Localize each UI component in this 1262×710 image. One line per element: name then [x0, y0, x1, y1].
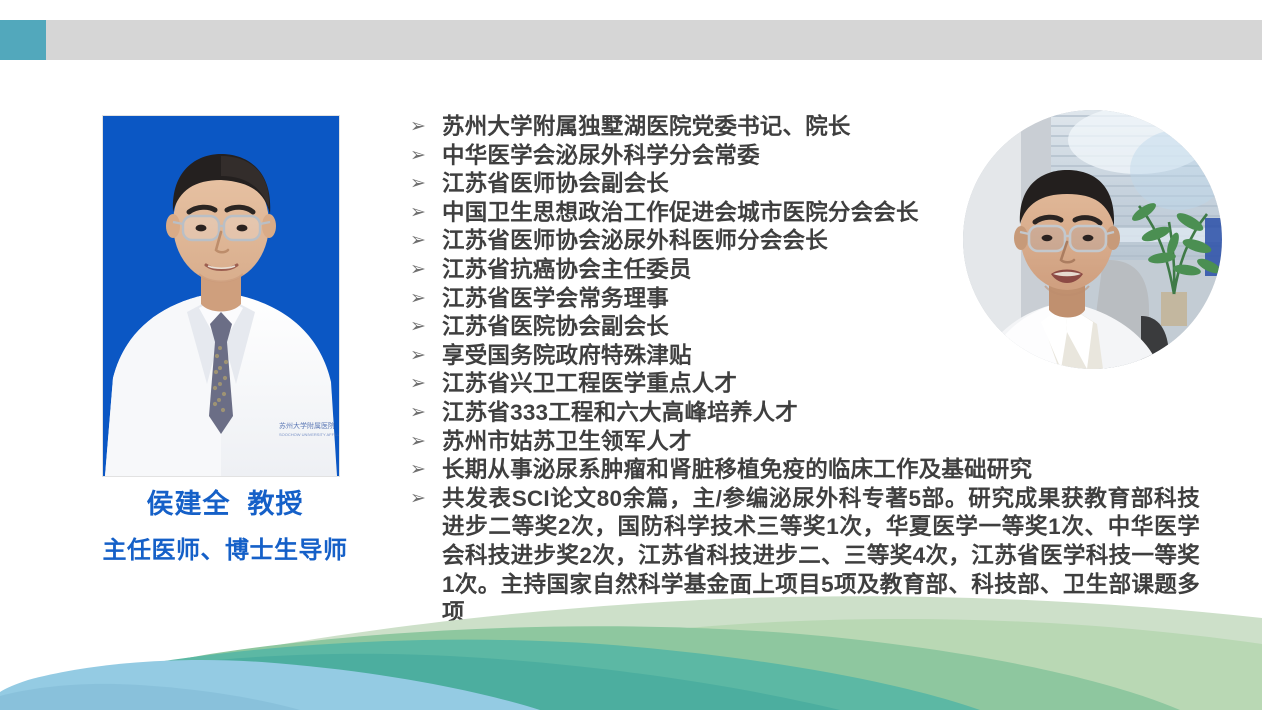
- chevron-arrow-icon: ➢: [410, 485, 442, 514]
- slide-canvas: 苏州大学附属医院 SOOCHOW UNIVERSITY AFFILIATED H…: [0, 0, 1262, 710]
- list-item-label: 苏州市姑苏卫生领军人才: [442, 428, 1200, 457]
- chevron-arrow-icon: ➢: [410, 399, 442, 428]
- chevron-arrow-icon: ➢: [410, 370, 442, 399]
- chevron-arrow-icon: ➢: [410, 313, 442, 342]
- list-item-label: 江苏省兴卫工程医学重点人才: [442, 370, 1200, 399]
- chevron-arrow-icon: ➢: [410, 113, 442, 142]
- chevron-arrow-icon: ➢: [410, 342, 442, 371]
- portrait-photo: 苏州大学附属医院 SOOCHOW UNIVERSITY AFFILIATED H…: [103, 116, 339, 476]
- chevron-arrow-icon: ➢: [410, 285, 442, 314]
- profile-name-block: 侯建全 教授 主任医师、博士生导师: [60, 488, 390, 566]
- list-item: ➢ 苏州市姑苏卫生领军人才: [410, 428, 1200, 457]
- chevron-arrow-icon: ➢: [410, 227, 442, 256]
- list-item: ➢ 长期从事泌尿系肿瘤和肾脏移植免疫的临床工作及基础研究: [410, 456, 1200, 485]
- chevron-arrow-icon: ➢: [410, 199, 442, 228]
- list-item: ➢ 江苏省兴卫工程医学重点人才: [410, 370, 1200, 399]
- svg-text:SOOCHOW UNIVERSITY AFFILIATED: SOOCHOW UNIVERSITY AFFILIATED HOSPITAL: [279, 432, 339, 437]
- list-item-label: 江苏省333工程和六大高峰培养人才: [442, 399, 1200, 428]
- page-title: 侯建全 教授: [60, 488, 390, 522]
- profile-subtitle: 主任医师、博士生导师: [60, 536, 390, 566]
- list-item-label: 长期从事泌尿系肿瘤和肾脏移植免疫的临床工作及基础研究: [442, 456, 1200, 485]
- header-bar: [0, 20, 1262, 60]
- chevron-arrow-icon: ➢: [410, 170, 442, 199]
- svg-text:苏州大学附属医院: 苏州大学附属医院: [279, 421, 335, 430]
- chevron-arrow-icon: ➢: [410, 456, 442, 485]
- header-accent-block: [0, 20, 46, 60]
- list-item-label: 共发表SCI论文80余篇，主/参编泌尿外科专著5部。研究成果获教育部科技进步二等…: [442, 485, 1200, 628]
- chevron-arrow-icon: ➢: [410, 142, 442, 171]
- video-call-thumbnail: [963, 110, 1222, 369]
- list-item: ➢ 共发表SCI论文80余篇，主/参编泌尿外科专著5部。研究成果获教育部科技进步…: [410, 485, 1200, 628]
- chevron-arrow-icon: ➢: [410, 428, 442, 457]
- list-item: ➢ 江苏省333工程和六大高峰培养人才: [410, 399, 1200, 428]
- chevron-arrow-icon: ➢: [410, 256, 442, 285]
